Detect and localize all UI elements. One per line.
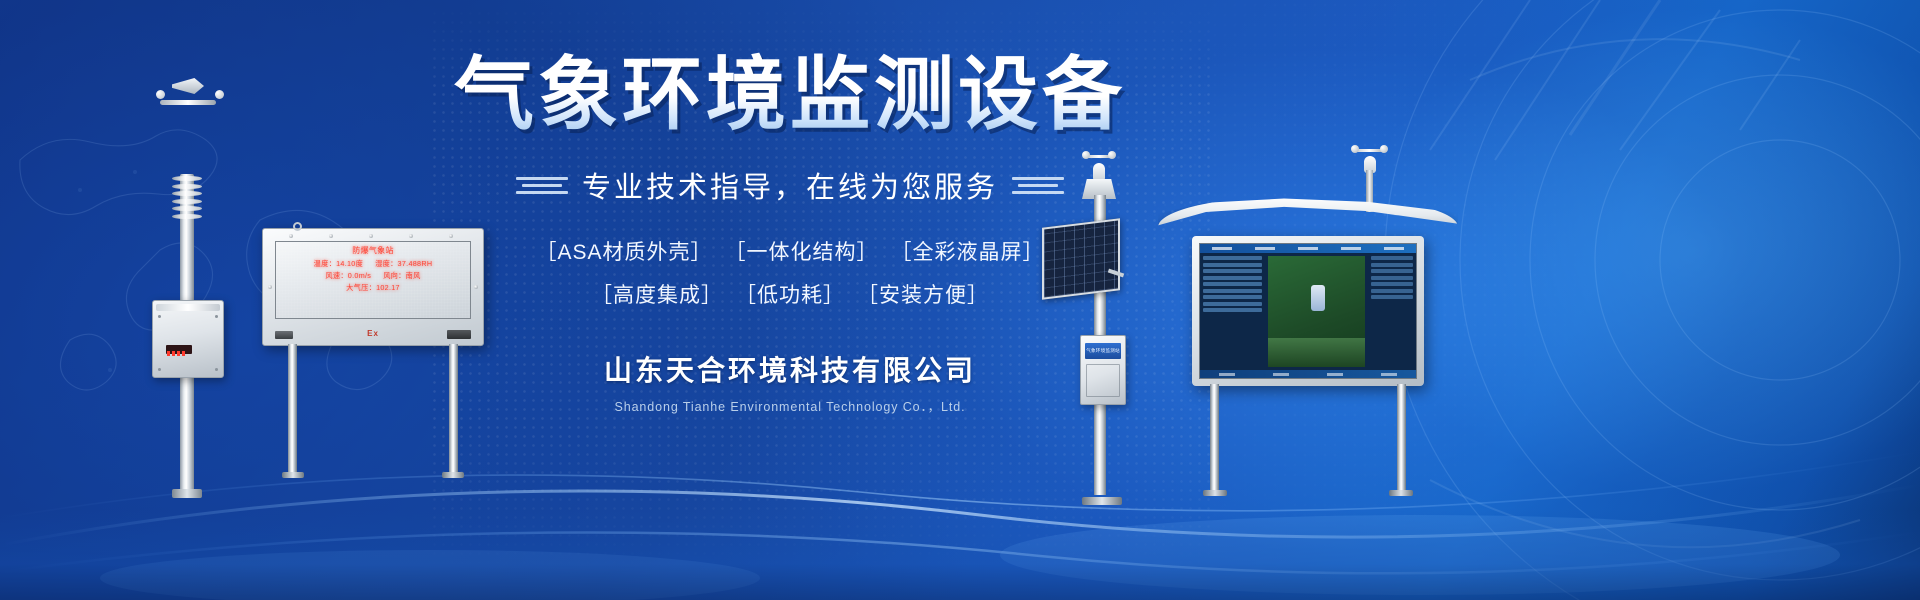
company-name-cn: 山东天合环境科技有限公司 <box>440 349 1140 389</box>
subtitle-row: 专业技术指导，在线为您服务 <box>440 164 1140 206</box>
feature-tag-asa-shell: ［ASA材质外壳］ <box>535 236 712 266</box>
lcd-right-list <box>1368 253 1416 370</box>
weather-mast-device <box>150 78 230 498</box>
board-foot-left <box>282 472 304 478</box>
kiosk-foot-right <box>1389 490 1413 496</box>
led-reading-humidity: 湿度：37.488RH <box>375 258 432 270</box>
company-name-en: Shandong Tianhe Environmental Technology… <box>440 396 1140 415</box>
kiosk-sensor-head <box>1356 142 1383 172</box>
lcd-video-area <box>1268 256 1366 367</box>
anemometer-cup-left <box>156 90 165 99</box>
triple-line-icon-left <box>516 177 568 194</box>
lcd-body <box>1200 253 1416 370</box>
banner-text-block: 气象环境监测设备 专业技术指导，在线为您服务 ［ASA材质外壳］ ［一体化结构］… <box>440 52 1140 415</box>
anemometer-cup-right <box>215 90 224 99</box>
lifting-ring <box>293 222 302 231</box>
kiosk-lcd-screen <box>1199 243 1417 379</box>
anemometer-crossbar <box>160 100 216 105</box>
feature-tag-high-integration: ［高度集成］ <box>591 279 723 309</box>
kiosk-leg-left <box>1210 384 1219 496</box>
company-block: 山东天合环境科技有限公司 Shandong Tianhe Environment… <box>440 349 1140 415</box>
feature-tag-low-power: ［低功耗］ <box>735 279 845 309</box>
solar-station-base <box>1082 497 1122 505</box>
feature-tag-row-1: ［ASA材质外壳］ ［一体化结构］ ［全彩液晶屏］ <box>440 236 1140 266</box>
wind-vane <box>172 78 204 94</box>
feature-tag-easy-install: ［安装方便］ <box>857 279 989 309</box>
explosion-proof-box <box>152 300 224 378</box>
page-title: 气象环境监测设备 <box>440 52 1140 138</box>
kiosk-panel-housing <box>1192 236 1424 386</box>
led-reading-temperature: 温度：14.10度 <box>314 258 363 270</box>
mast-base <box>172 489 202 498</box>
box-led-indicator <box>166 345 192 354</box>
board-foot-right <box>442 472 464 478</box>
ground-glow <box>0 510 1920 600</box>
kiosk-canopy <box>1158 196 1458 238</box>
lcd-kiosk-device <box>1158 196 1458 496</box>
lcd-left-list <box>1200 253 1265 370</box>
kiosk-foot-left <box>1203 490 1227 496</box>
kiosk-leg-right <box>1397 384 1406 496</box>
led-reading-windspeed: 风速：0.0m/s <box>325 270 371 282</box>
feature-tags: ［ASA材质外壳］ ［一体化结构］ ［全彩液晶屏］ ［高度集成］ ［低功耗］ ［… <box>440 236 1140 309</box>
led-reading-pressure: 大气压：102.17 <box>346 283 400 292</box>
feature-tag-row-2: ［高度集成］ ［低功耗］ ［安装方便］ <box>440 279 1140 309</box>
board-vent-left <box>275 331 293 339</box>
radiation-shield <box>172 176 202 224</box>
lcd-video-ground <box>1268 338 1366 367</box>
lcd-bottom-bar <box>1200 370 1416 378</box>
board-leg-left <box>288 344 297 478</box>
feature-tag-full-color-lcd: ［全彩液晶屏］ <box>891 236 1045 266</box>
ex-certification-mark: Ex <box>367 329 379 338</box>
feature-tag-integrated-structure: ［一体化结构］ <box>725 236 879 266</box>
box-lid <box>156 304 220 311</box>
page-subtitle: 专业技术指导，在线为您服务 <box>582 164 998 206</box>
triple-line-icon-right <box>1012 177 1064 194</box>
lcd-video-subject <box>1311 285 1325 311</box>
banner-root: 防爆气象站 温度：14.10度 湿度：37.488RH 风速：0.0m/s 风向… <box>0 0 1920 600</box>
lcd-top-bar <box>1200 244 1416 253</box>
led-reading-winddirection: 风向：南风 <box>383 270 420 282</box>
